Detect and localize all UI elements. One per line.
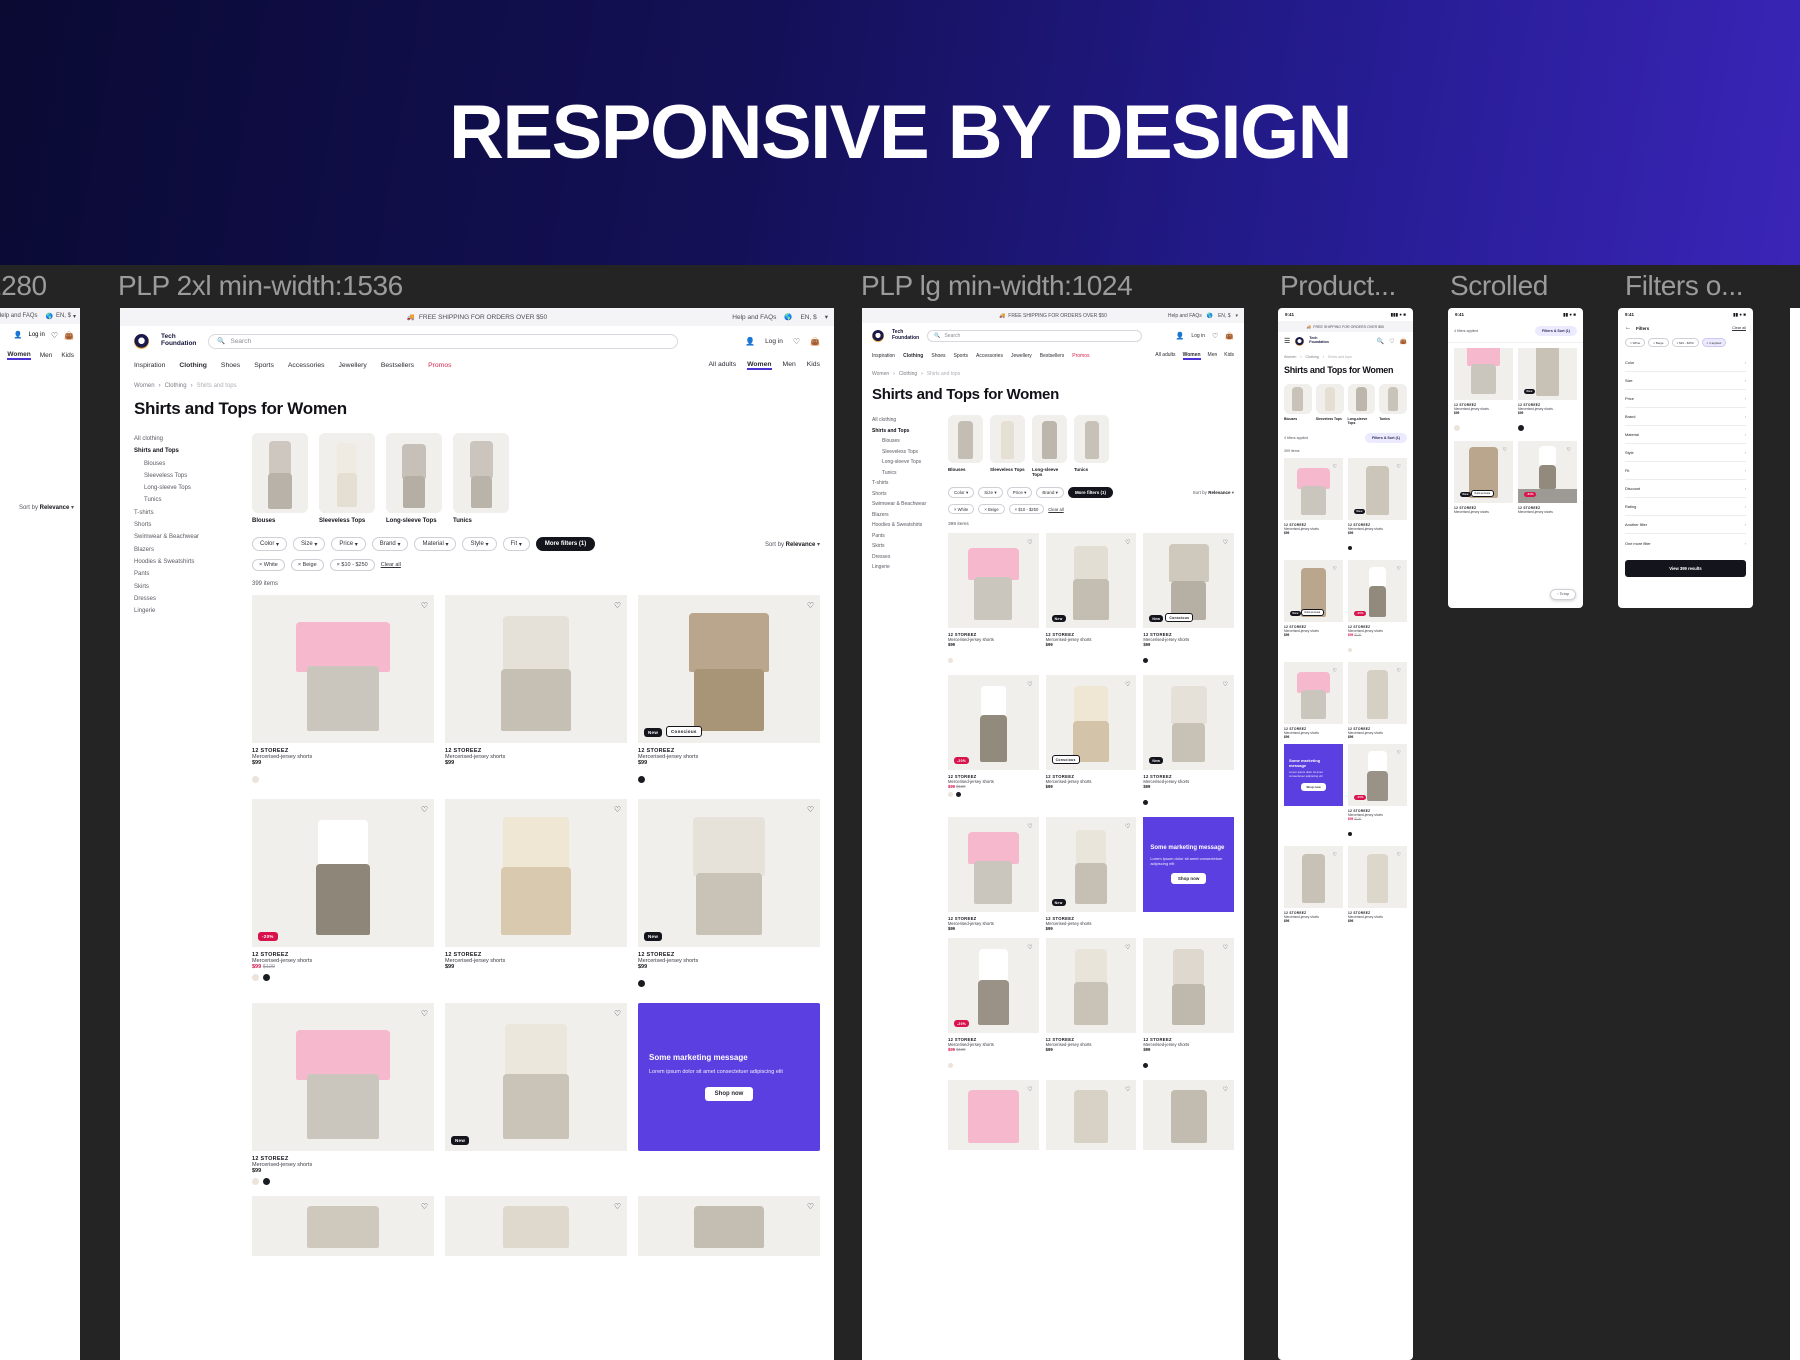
locale-selector[interactable]: EN, $	[1218, 313, 1231, 319]
more-filters-button[interactable]: More filters (1)	[536, 537, 595, 551]
color-swatch[interactable]	[252, 1178, 259, 1185]
nav-promos[interactable]: Promos	[1072, 353, 1089, 359]
category-card[interactable]	[1348, 384, 1376, 414]
product-card[interactable]: ♡ -20% 12 STOREEZ Mercerised-jersey shor…	[1348, 560, 1407, 657]
globe-icon: 🌎	[784, 313, 792, 321]
help-link[interactable]: Help and FAQs	[732, 314, 776, 321]
sort-value[interactable]: Relevance	[1208, 490, 1230, 495]
product-card[interactable]: New 12 STOREEZ Mercerised-jersey shorts …	[1518, 348, 1577, 436]
nav-accessories[interactable]: Accessories	[288, 362, 325, 369]
bag-icon[interactable]: 👜	[1225, 332, 1234, 340]
brand-name[interactable]: TechFoundation	[892, 330, 919, 341]
side-nav-item[interactable]: Blouses	[134, 458, 238, 470]
product-price: $99 $120	[948, 1047, 1039, 1052]
wishlist-icon[interactable]: ♡	[421, 1202, 428, 1211]
audience-kids[interactable]: Kids	[807, 361, 820, 370]
wishlist-icon[interactable]: ♡	[1027, 539, 1032, 546]
wishlist-icon[interactable]: ♡	[1223, 539, 1228, 546]
side-nav-item[interactable]: Long-sleeve Tops	[134, 482, 238, 494]
product-card[interactable]: ♡ Conscious 12 STOREEZ Mercerised-jersey…	[1046, 675, 1137, 810]
product-card[interactable]: ♡ New	[445, 1003, 627, 1185]
chevron-right-icon: ›	[1745, 486, 1746, 491]
product-card[interactable]: ♡ -20% 12 STOREEZ Mercerised-jersey shor…	[948, 938, 1039, 1073]
logo-icon[interactable]	[134, 334, 149, 349]
sort-value[interactable]: Relevance	[786, 542, 816, 548]
category-label[interactable]: Tunics	[1379, 417, 1407, 421]
filter-row-onemore[interactable]: One more filter›	[1625, 534, 1746, 552]
login-link[interactable]: Log in	[765, 338, 783, 345]
color-swatch[interactable]	[1143, 1063, 1148, 1068]
nav-jewellery[interactable]: Jewellery	[339, 362, 367, 369]
wishlist-icon[interactable]: ♡	[614, 601, 621, 610]
heart-icon[interactable]: ♡	[51, 331, 58, 340]
category-card[interactable]	[1284, 384, 1312, 414]
side-nav-item[interactable]: Sleeveless Tops	[872, 447, 938, 458]
marketing-body: Lorem ipsum dolor sit amet consectetuer …	[1289, 771, 1338, 778]
applied-filter-white[interactable]: × White	[948, 504, 974, 514]
breadcrumb-clothing[interactable]: Clothing	[1306, 355, 1319, 359]
product-card[interactable]: ♡	[638, 1196, 820, 1256]
side-nav-item[interactable]: Lingerie	[872, 562, 938, 573]
nav-jewellery[interactable]: Jewellery	[1011, 353, 1032, 359]
filter-row-another[interactable]: Another filter›	[1625, 516, 1746, 534]
wishlist-icon[interactable]: ♡	[1333, 566, 1337, 572]
chevron-down-icon: ▾	[994, 490, 996, 496]
side-nav-item[interactable]: T-shirts	[872, 478, 938, 489]
badge-sale: -20%	[1354, 611, 1366, 616]
product-card[interactable]: ♡ 12 STOREEZ Mercerised-jersey shorts $9…	[1284, 846, 1343, 923]
side-nav-item[interactable]: Shorts	[872, 489, 938, 500]
view-results-button[interactable]: View 399 results	[1625, 560, 1746, 577]
heart-icon[interactable]: ♡	[1389, 338, 1394, 345]
announcement-bar: 🚚 FREE SHIPPING FOR ORDERS OVER $50 Help…	[120, 308, 834, 326]
category-label[interactable]: Long-sleeve Tops	[386, 518, 442, 524]
category-card[interactable]	[1032, 415, 1067, 463]
side-nav-item[interactable]: Sleeveless Tops	[134, 470, 238, 482]
side-nav-item[interactable]: Shorts	[134, 519, 238, 531]
chevron-right-icon: ›	[1745, 360, 1746, 365]
side-nav-item[interactable]: All clothing	[134, 433, 238, 445]
product-card[interactable]: ♡ New Conscious 12 STOREEZ Mercerised-je…	[1454, 441, 1513, 514]
color-swatch[interactable]	[1518, 425, 1524, 431]
filter-fit[interactable]: Fit ▾	[503, 537, 530, 551]
chevron-down-icon: ▾	[1024, 490, 1026, 496]
product-card[interactable]: ♡ 12 STOREEZ Mercerised-jersey shorts $9…	[1348, 662, 1407, 739]
marketing-tile[interactable]: Some marketing message Lorem ipsum dolor…	[1284, 744, 1343, 806]
side-nav-item[interactable]: Blazers	[134, 544, 238, 556]
product-card[interactable]: ♡ New 12 STOREEZ Mercerised-jersey short…	[1046, 533, 1137, 668]
truck-icon: 🚚	[407, 313, 415, 321]
filter-price[interactable]: Price ▾	[331, 537, 365, 551]
breadcrumb-clothing[interactable]: Clothing	[899, 371, 917, 377]
audience-women[interactable]: Women	[7, 351, 30, 360]
product-card[interactable]: ♡ -20% 12 STOREEZ Mercerised-jersey shor…	[1348, 744, 1407, 841]
wishlist-icon[interactable]: ♡	[421, 805, 428, 814]
color-swatch[interactable]	[956, 792, 961, 797]
audience-kids[interactable]: Kids	[61, 352, 74, 359]
wishlist-icon[interactable]: ♡	[1333, 852, 1337, 858]
category-label[interactable]: Tunics	[453, 518, 509, 524]
breadcrumb-clothing[interactable]: Clothing	[165, 383, 187, 389]
bag-icon[interactable]: 👜	[810, 337, 820, 346]
logo-icon[interactable]	[872, 330, 884, 342]
category-card[interactable]	[319, 433, 375, 513]
wishlist-icon[interactable]: ♡	[421, 1009, 428, 1018]
locale-selector[interactable]: EN, $	[800, 314, 816, 321]
marketing-tile[interactable]: Some marketing message Lorem ipsum dolor…	[1143, 817, 1234, 912]
login-link[interactable]: Log in	[1191, 333, 1205, 339]
wishlist-icon[interactable]: ♡	[1125, 823, 1130, 830]
color-swatch[interactable]	[252, 974, 259, 981]
applied-filter-count[interactable]: × 4 applied	[1702, 338, 1727, 347]
color-swatch[interactable]	[1348, 546, 1352, 550]
audience-all-adults[interactable]: All adults	[709, 361, 737, 370]
wishlist-icon[interactable]: ♡	[1027, 823, 1032, 830]
hamburger-icon[interactable]: ☰	[1284, 337, 1290, 345]
product-card[interactable]: ♡ 12 STOREEZ Mercerised-jersey shorts $9…	[1348, 846, 1407, 923]
breadcrumb: Women› Clothing› Shirts and tops	[1278, 350, 1413, 359]
clear-all-button[interactable]: Clear all	[1048, 507, 1063, 512]
chevron-down-icon: ▾	[1235, 313, 1238, 319]
category-label[interactable]: Long-sleeve Tops	[1348, 417, 1376, 425]
side-nav-item[interactable]: Lingerie	[134, 605, 238, 617]
color-swatch[interactable]	[948, 792, 953, 797]
wishlist-icon[interactable]: ♡	[1333, 464, 1337, 470]
category-label[interactable]: Blouses	[948, 467, 983, 472]
product-price: $99	[252, 760, 434, 766]
product-card[interactable]: ♡ 12 STOREEZ Mercerised-jersey shorts $9…	[252, 1003, 434, 1185]
wishlist-icon[interactable]: ♡	[1503, 447, 1507, 453]
wishlist-icon[interactable]: ♡	[1397, 464, 1401, 470]
category-label[interactable]: Blouses	[1284, 417, 1312, 421]
color-swatch[interactable]	[1348, 832, 1352, 836]
product-card[interactable]: ♡	[252, 1196, 434, 1256]
category-card[interactable]	[1316, 384, 1344, 414]
side-nav-item[interactable]: Skirts	[872, 541, 938, 552]
wishlist-icon[interactable]: ♡	[614, 805, 621, 814]
category-label[interactable]: Sleeveless Tops	[1316, 417, 1344, 421]
marketing-body: Lorem ipsum dolor sit amet consectetuer …	[1150, 856, 1227, 867]
wishlist-icon[interactable]: ♡	[1223, 944, 1228, 951]
filter-color[interactable]: Color ▾	[252, 537, 287, 551]
status-bar: 9:41 ▮▮ ● ■	[1618, 308, 1753, 321]
side-nav-item[interactable]: Swimwear & Beachwear	[134, 531, 238, 543]
bag-icon[interactable]: 👜	[1400, 338, 1407, 345]
product-card[interactable]: ♡ -20% 12 STOREEZ Mercerised-jersey shor…	[252, 799, 434, 992]
audience-men[interactable]: Men	[1208, 352, 1218, 360]
brand-name[interactable]: TechFoundation	[1309, 337, 1329, 345]
product-price: $99	[948, 926, 1039, 931]
marketing-tile[interactable]: Some marketing message Lorem ipsum dolor…	[638, 1003, 820, 1151]
user-icon[interactable]: 👤	[1176, 332, 1185, 340]
color-swatch[interactable]	[1348, 648, 1352, 652]
category-card[interactable]	[1074, 415, 1109, 463]
frame-mobile-product[interactable]: 9:41 ▮▮▮ ● ■ 🚚 FREE SHIPPING FOR ORDERS …	[1278, 308, 1413, 1360]
side-nav-item[interactable]: Dresses	[134, 593, 238, 605]
marketing-title: Some marketing message	[1289, 759, 1338, 769]
product-card[interactable]: 12 STOREEZ Mercerised-jersey shorts $99	[1454, 348, 1513, 436]
heart-icon[interactable]: ♡	[1212, 332, 1218, 340]
nav-clothing[interactable]: Clothing	[179, 362, 207, 369]
wishlist-icon[interactable]: ♡	[1567, 447, 1571, 453]
side-nav-item[interactable]: Blazers	[872, 510, 938, 521]
side-nav-item[interactable]: Hoodies & Sweatshirts	[134, 556, 238, 568]
chevron-down-icon: ▾	[1056, 490, 1058, 496]
applied-filter-white[interactable]: × White	[252, 559, 285, 571]
wishlist-icon[interactable]: ♡	[1397, 852, 1401, 858]
frame-mobile-scrolled[interactable]: 9:41 ▮▮ ● ■ 4 filters applied Filters & …	[1448, 308, 1583, 608]
product-card[interactable]: ♡	[1143, 1080, 1234, 1150]
filter-row-price[interactable]: Price›	[1625, 390, 1746, 408]
filter-material[interactable]: Material ▾	[414, 537, 456, 551]
nav-sports[interactable]: Sports	[954, 353, 968, 359]
breadcrumb-women[interactable]: Women	[1284, 355, 1296, 359]
filter-row-brand[interactable]: Brand›	[1625, 408, 1746, 426]
wishlist-icon[interactable]: ♡	[1125, 1086, 1130, 1093]
to-top-button[interactable]: ↑ To top	[1550, 589, 1576, 600]
product-card[interactable]: ♡ 12 STOREEZ Mercerised-jersey shorts $9…	[1046, 938, 1137, 1073]
color-swatch[interactable]	[1143, 658, 1148, 663]
wishlist-icon[interactable]: ♡	[1333, 668, 1337, 674]
side-nav-item[interactable]: Pants	[134, 568, 238, 580]
clear-all-button[interactable]: Clear all	[1732, 326, 1746, 330]
help-link[interactable]: Help and FAQs	[1168, 313, 1202, 319]
audience-all-adults[interactable]: All adults	[1155, 352, 1175, 360]
wishlist-icon[interactable]: ♡	[1125, 539, 1130, 546]
clear-all-button[interactable]: Clear all	[381, 562, 401, 568]
search-icon[interactable]: 🔍	[1377, 338, 1384, 345]
applied-filter-beige[interactable]: × Beige	[978, 504, 1004, 514]
badge-new: New	[1149, 757, 1163, 764]
audience-men[interactable]: Men	[783, 361, 796, 370]
product-card[interactable]: ♡ New 12 STOREEZ Mercerised-jersey short…	[1143, 675, 1234, 810]
product-price: $99	[1348, 919, 1407, 923]
locale-selector[interactable]: EN, $	[56, 313, 71, 319]
filter-brand[interactable]: Brand ▾	[372, 537, 409, 551]
side-nav-item[interactable]: Shirts and Tops	[134, 445, 238, 457]
filters-sort-button[interactable]: Filters & Sort (1)	[1365, 433, 1407, 443]
nav-accessories[interactable]: Accessories	[976, 353, 1003, 359]
category-label[interactable]: Long-sleeve Tops	[1032, 467, 1067, 477]
wishlist-icon[interactable]: ♡	[1125, 944, 1130, 951]
category-label[interactable]: Sleeveless Tops	[319, 518, 375, 524]
more-filters-button[interactable]: More filters (1)	[1068, 487, 1113, 498]
search-input[interactable]: 🔍 Search	[927, 330, 1142, 342]
filter-row-material[interactable]: Material›	[1625, 426, 1746, 444]
filter-row-rating[interactable]: Rating›	[1625, 498, 1746, 516]
shop-now-button[interactable]: Shop now	[705, 1087, 754, 1101]
product-card[interactable]: ♡ New 12 STOREEZ Mercerised-jersey short…	[638, 799, 820, 992]
frame-label-filters: Filters o...	[1625, 270, 1743, 302]
frames-canvas: 1280 PLP 2xl min-width:1536 PLP lg min-w…	[0, 265, 1800, 1360]
product-card[interactable]: ♡	[948, 1080, 1039, 1150]
filter-row-size[interactable]: Size›	[1625, 372, 1746, 390]
category-title: Shirts and Tops for Women	[1278, 359, 1413, 376]
wishlist-icon[interactable]: ♡	[1125, 681, 1130, 688]
category-card[interactable]	[453, 433, 509, 513]
color-swatch[interactable]	[638, 980, 645, 987]
side-nav-item[interactable]: Tunics	[872, 468, 938, 479]
wishlist-icon[interactable]: ♡	[1027, 1086, 1032, 1093]
product-card[interactable]: ♡	[445, 1196, 627, 1256]
help-link[interactable]: Help and FAQs	[0, 313, 37, 319]
product-card[interactable]: ♡ New 12 STOREEZ Mercerised-jersey short…	[1046, 817, 1137, 931]
nav-promos[interactable]: Promos	[428, 362, 451, 369]
category-card[interactable]	[1379, 384, 1407, 414]
breadcrumb-women[interactable]: Women	[872, 371, 889, 377]
side-nav-item[interactable]: Hoodies & Sweatshirts	[872, 520, 938, 531]
shop-now-button[interactable]: Shop now	[1171, 873, 1207, 884]
nav-shoes[interactable]: Shoes	[221, 362, 240, 369]
product-card[interactable]: ♡ 12 STOREEZ Mercerised-jersey shorts $9…	[948, 533, 1039, 668]
filter-brand[interactable]: Brand ▾	[1036, 487, 1064, 498]
shop-now-button[interactable]: Shop now	[1301, 783, 1325, 791]
product-card[interactable]: ♡ 12 STOREEZ Mercerised-jersey shorts $9…	[1284, 458, 1343, 555]
brand-name[interactable]: TechFoundation	[161, 334, 196, 348]
wishlist-icon[interactable]: ♡	[1397, 566, 1401, 572]
color-swatch[interactable]	[948, 658, 953, 663]
side-nav-item[interactable]: Tunics	[134, 494, 238, 506]
category-card[interactable]	[990, 415, 1025, 463]
applied-filter-beige[interactable]: × Beige	[1648, 338, 1668, 347]
breadcrumb-women[interactable]: Women	[134, 383, 155, 389]
product-card[interactable]: ♡ 12 STOREEZ Mercerised-jersey shorts $9…	[445, 799, 627, 992]
product-card[interactable]: ♡ New Conscious 12 STOREEZ Mercerised-je…	[1284, 560, 1343, 657]
color-swatch[interactable]	[1143, 800, 1148, 805]
filter-row-style[interactable]: Style›	[1625, 444, 1746, 462]
audience-women[interactable]: Women	[1183, 352, 1201, 360]
product-card[interactable]: ♡ New 12 STOREEZ Mercerised-jersey short…	[1348, 458, 1407, 555]
color-swatch[interactable]	[263, 974, 270, 981]
product-card[interactable]: ♡ 12 STOREEZ Mercerised-jersey shorts $9…	[445, 595, 627, 788]
applied-filter-white[interactable]: × White	[1625, 338, 1645, 347]
user-icon[interactable]: 👤	[14, 331, 23, 339]
filter-color[interactable]: Color ▾	[948, 487, 974, 498]
audience-kids[interactable]: Kids	[1224, 352, 1234, 360]
side-nav-item[interactable]: Long-sleeve Tops	[872, 457, 938, 468]
wishlist-icon[interactable]: ♡	[1223, 681, 1228, 688]
audience-men[interactable]: Men	[40, 352, 53, 359]
search-input[interactable]: 🔍 Search	[208, 334, 678, 349]
audience-women[interactable]: Women	[747, 361, 771, 370]
side-nav-item[interactable]: All clothing	[872, 415, 938, 426]
category-label[interactable]: Sleeveless Tops	[990, 467, 1025, 472]
nav-inspiration[interactable]: Inspiration	[134, 362, 165, 369]
color-swatch[interactable]	[252, 776, 259, 783]
filter-style[interactable]: Style ▾	[462, 537, 496, 551]
user-icon[interactable]: 👤	[745, 337, 755, 346]
side-nav-item[interactable]: T-shirts	[134, 507, 238, 519]
wishlist-icon[interactable]: ♡	[614, 1009, 621, 1018]
category-card[interactable]	[948, 415, 983, 463]
filter-row-color[interactable]: Color›	[1625, 354, 1746, 372]
product-card[interactable]: ♡ 12 STOREEZ Mercerised-jersey shorts $9…	[1143, 938, 1234, 1073]
side-nav-item[interactable]: Shirts and Tops	[872, 426, 938, 437]
category-card[interactable]	[386, 433, 442, 513]
product-card[interactable]: ♡ 12 STOREEZ Mercerised-jersey shorts $9…	[948, 817, 1039, 931]
product-card[interactable]: ♡	[1046, 1080, 1137, 1150]
nav-sports[interactable]: Sports	[254, 362, 274, 369]
color-swatch[interactable]	[1454, 425, 1460, 431]
category-card[interactable]	[252, 433, 308, 513]
nav-bestsellers[interactable]: Bestsellers	[381, 362, 414, 369]
filters-sort-button[interactable]: Filters & Sort (1)	[1535, 326, 1577, 336]
chevron-down-icon: ▾	[276, 541, 279, 548]
nav-clothing[interactable]: Clothing	[903, 353, 923, 359]
login-link[interactable]: Log in	[29, 332, 45, 338]
frame-label-1280: 1280	[0, 270, 47, 302]
search-icon: 🔍	[217, 337, 225, 345]
wishlist-icon[interactable]: ♡	[807, 601, 814, 610]
wishlist-icon[interactable]: ♡	[807, 805, 814, 814]
product-price: $99	[1046, 926, 1137, 931]
wishlist-icon[interactable]: ♡	[807, 1202, 814, 1211]
wishlist-icon[interactable]: ♡	[1027, 681, 1032, 688]
wishlist-icon[interactable]: ♡	[1397, 668, 1401, 674]
product-card[interactable]: ♡ New Conscious 12 STOREEZ Mercerised-je…	[1143, 533, 1234, 668]
nav-bestsellers[interactable]: Bestsellers	[1040, 353, 1064, 359]
applied-filter-price[interactable]: × $10 - $250	[1672, 338, 1699, 347]
wishlist-icon[interactable]: ♡	[614, 1202, 621, 1211]
category-label[interactable]: Tunics	[1074, 467, 1109, 472]
product-card[interactable]: ♡ 12 STOREEZ Mercerised-jersey shorts $9…	[252, 595, 434, 788]
bag-icon[interactable]: 👜	[64, 331, 74, 340]
frame-plp-lg[interactable]: 🚚 FREE SHIPPING FOR ORDERS OVER $50 Help…	[862, 308, 1244, 1360]
product-card[interactable]: ♡ -20% 12 STOREEZ Mercerised-jersey shor…	[948, 675, 1039, 810]
frame-clipped-right	[1790, 308, 1800, 1360]
side-nav-item[interactable]: Skirts	[134, 581, 238, 593]
side-nav-item[interactable]: Pants	[872, 531, 938, 542]
wishlist-icon[interactable]: ♡	[1397, 750, 1401, 756]
chevron-down-icon: ▾	[445, 541, 448, 548]
nav-inspiration[interactable]: Inspiration	[872, 353, 895, 359]
applied-filter-price[interactable]: × $10 - $250	[330, 559, 375, 571]
frame-mobile-filters[interactable]: 9:41 ▮▮ ● ■ ← Filters Clear all × White …	[1618, 308, 1753, 608]
product-card[interactable]: ♡ -20% 12 STOREEZ Mercerised-jersey shor…	[1518, 441, 1577, 514]
product-card[interactable]: ♡ New Conscious 12 STOREEZ Mercerised-je…	[638, 595, 820, 788]
side-nav-item[interactable]: Swimwear & Beachwear	[872, 499, 938, 510]
wishlist-icon[interactable]: ♡	[1027, 944, 1032, 951]
filter-size[interactable]: Size ▾	[978, 487, 1002, 498]
applied-filter-price[interactable]: × $10 - $250	[1009, 504, 1045, 514]
filter-row-discount[interactable]: Discount›	[1625, 480, 1746, 498]
product-card[interactable]: ♡ 12 STOREEZ Mercerised-jersey shorts $9…	[1284, 662, 1343, 739]
logo-icon[interactable]	[1295, 337, 1304, 346]
frame-plp-2xl[interactable]: 🚚 FREE SHIPPING FOR ORDERS OVER $50 Help…	[120, 308, 834, 1360]
color-swatch[interactable]	[263, 1178, 270, 1185]
heart-icon[interactable]: ♡	[793, 337, 800, 346]
sort-value[interactable]: Relevance	[40, 505, 70, 511]
chevron-right-icon: ›	[1745, 414, 1746, 419]
frame-1280[interactable]: Help and FAQs 🌎 EN, $ ▾ 👤 Log in ♡ 👜 Wom…	[0, 308, 80, 1360]
filter-row-fit[interactable]: Fit›	[1625, 462, 1746, 480]
color-swatch[interactable]	[948, 1063, 953, 1068]
applied-filter-beige[interactable]: × Beige	[291, 559, 324, 571]
filter-price[interactable]: Price ▾	[1007, 487, 1033, 498]
filter-size[interactable]: Size ▾	[293, 537, 325, 551]
category-label[interactable]: Blouses	[252, 518, 308, 524]
wishlist-icon[interactable]: ♡	[421, 601, 428, 610]
product-price: $99	[1284, 735, 1343, 739]
nav-shoes[interactable]: Shoes	[931, 353, 945, 359]
side-nav-item[interactable]: Dresses	[872, 552, 938, 563]
back-arrow-icon[interactable]: ←	[1625, 325, 1631, 331]
color-swatch[interactable]	[638, 776, 645, 783]
side-nav-item[interactable]: Blouses	[872, 436, 938, 447]
chevron-right-icon: ›	[1745, 450, 1746, 455]
wishlist-icon[interactable]: ♡	[1223, 1086, 1228, 1093]
sort-label: Sort by	[765, 542, 784, 548]
